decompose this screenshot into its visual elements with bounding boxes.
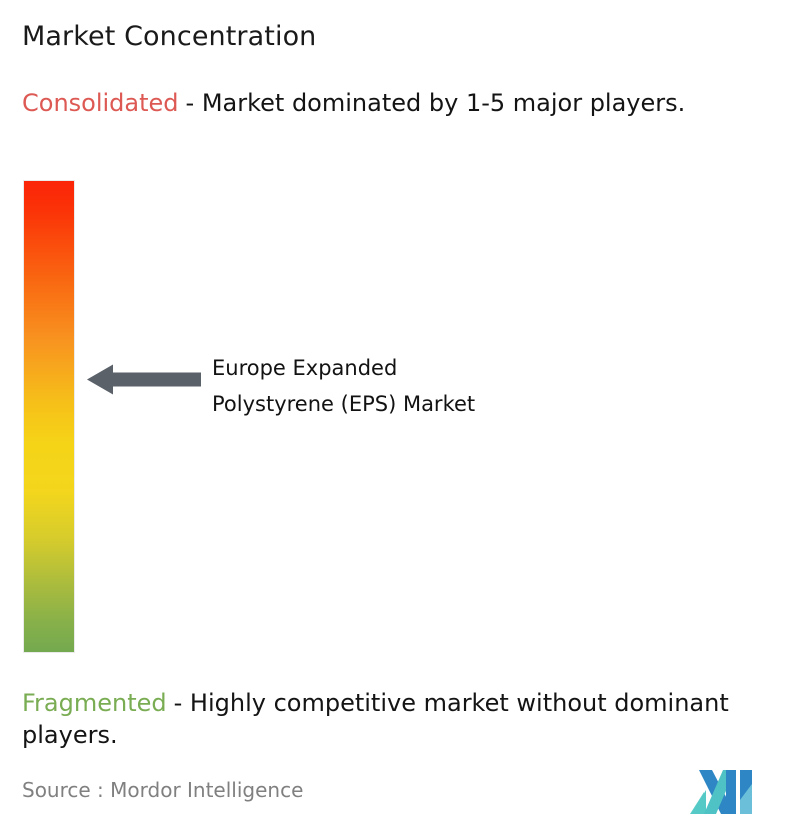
market-concentration-infographic: Market Concentration Consolidated- Marke… [0,0,796,834]
left-arrow-icon [87,363,201,396]
source-attribution: Source : Mordor Intelligence [22,777,303,803]
page-title: Market Concentration [22,20,316,54]
fragmented-definition: Fragmented- Highly competitive market wi… [22,687,784,751]
consolidated-definition: Consolidated- Market dominated by 1-5 ma… [22,87,784,119]
fragmented-term: Fragmented [22,689,167,717]
consolidated-description: - Market dominated by 1-5 major players. [186,89,686,117]
mordor-intelligence-logo-icon [690,764,762,820]
concentration-scale-bar [24,181,74,652]
callout-label: Europe Expanded Polystyrene (EPS) Market [212,350,475,422]
consolidated-term: Consolidated [22,89,179,117]
